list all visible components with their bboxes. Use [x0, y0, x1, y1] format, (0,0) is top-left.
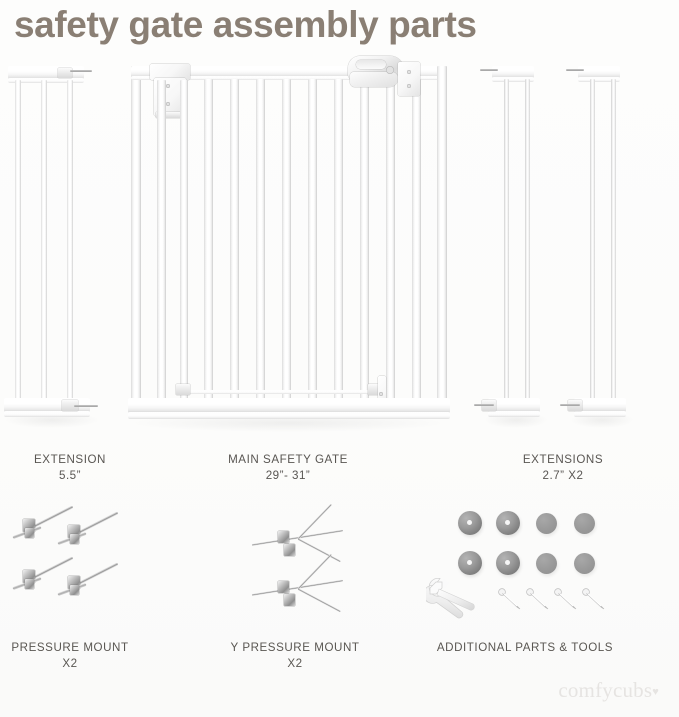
- pressure-bolt-2-threaded-rod: [74, 511, 118, 535]
- main-gate-bar-4: [282, 79, 291, 400]
- caption-y-pressure-mount-name: Y PRESSURE MOUNT: [230, 641, 359, 654]
- main-gate-hinge-hole-1: [166, 84, 170, 88]
- extension-b-bottom-rail-edge: [574, 411, 626, 417]
- caption-y-pressure-mount: Y PRESSURE MOUNT X2: [220, 640, 370, 671]
- main-gate-bar-8: [386, 79, 395, 400]
- brand-watermark: comfycubs♥: [558, 678, 659, 703]
- main-gate-bar-3: [256, 79, 265, 400]
- caption-main-safety-gate-size: 29”- 31”: [158, 468, 418, 484]
- rubber-cap-1: [536, 513, 557, 534]
- rubber-cap-3: [536, 553, 557, 574]
- heart-icon: ♥: [652, 686, 659, 698]
- caption-pressure-mount-size: X2: [0, 656, 140, 672]
- main-gate-bar-1: [204, 79, 213, 400]
- wall-cup-4: [496, 551, 520, 575]
- pressure-bolt-2-washer: [70, 534, 79, 544]
- main-gate-hinge-hole-2: [166, 102, 170, 106]
- main-gate-bar-9: [412, 79, 421, 400]
- extension-a-top-pin: [480, 69, 498, 71]
- extension-b-bar-2: [611, 79, 616, 400]
- latch-mounting-bracket: [398, 62, 420, 96]
- main-gate-door-crossbar: [184, 390, 374, 394]
- latch-bottom-pin-hole: [379, 392, 383, 396]
- wrench-icon: [426, 578, 482, 622]
- caption-extension-5-5: EXTENSION 5.5”: [0, 452, 140, 483]
- brand-name: comfycubs: [558, 678, 652, 702]
- extension-5-5-bar-3: [67, 80, 73, 400]
- main-gate-door-left-post: [157, 80, 166, 400]
- pressure-bolt-4-washer: [70, 585, 79, 595]
- main-gate-crossbar-end-left: [176, 384, 190, 395]
- caption-additional-parts-tools: ADDITIONAL PARTS & TOOLS: [410, 640, 640, 656]
- y-mount-2-nut-lower: [284, 594, 295, 606]
- caption-main-safety-gate: MAIN SAFETY GATE 29”- 31”: [158, 452, 418, 483]
- caption-extensions-2-7-name: EXTENSIONS: [523, 453, 603, 466]
- y-mount-1-arm-lower: [297, 538, 340, 562]
- caption-pressure-mount: PRESSURE MOUNT X2: [0, 640, 140, 671]
- rubber-cap-2: [574, 513, 595, 534]
- pressure-bolt-1-threaded-rod: [29, 505, 73, 529]
- extension-5-5-top-pin: [70, 70, 92, 72]
- extension-a-bar-2: [525, 79, 530, 400]
- latch-bracket-hole-2: [407, 84, 411, 88]
- latch-handle-body: [350, 72, 398, 87]
- main-gate-bottom-rail: [128, 398, 450, 413]
- caption-extensions-2-7: EXTENSIONS 2.7” X2: [488, 452, 638, 483]
- main-gate-bottom-rail-edge: [128, 412, 450, 419]
- extension-5-5-bar-2: [41, 80, 47, 400]
- extension-b-bottom-pin: [560, 404, 580, 406]
- main-gate-bar-6: [334, 79, 343, 400]
- pressure-bolt-3-washer: [25, 579, 34, 589]
- latch-pivot-hole: [386, 66, 394, 74]
- pressure-bolt-1-washer: [25, 528, 34, 538]
- rubber-cap-4: [574, 553, 595, 574]
- main-gate-bar-2: [230, 79, 239, 400]
- extension-5-5-bar-1: [15, 80, 21, 400]
- latch-handle-grip: [356, 60, 386, 69]
- caption-main-safety-gate-name: MAIN SAFETY GATE: [228, 453, 348, 466]
- y-mount-2-nut-upper: [278, 581, 289, 593]
- y-mount-1-nut-lower: [284, 544, 295, 556]
- screw-3: [554, 588, 580, 610]
- pressure-bolt-3-threaded-rod: [29, 556, 73, 580]
- main-gate-left-post: [131, 66, 141, 410]
- infographic-canvas: safety gate assembly parts EXTENSION 5.5…: [0, 0, 679, 717]
- main-gate-door-inner-post: [180, 80, 188, 400]
- main-gate-right-post: [437, 66, 447, 410]
- y-mount-1-nut-upper: [278, 531, 289, 543]
- caption-y-pressure-mount-size: X2: [220, 656, 370, 672]
- wall-cup-3: [458, 551, 482, 575]
- extension-b-top-pin: [566, 69, 584, 71]
- caption-extension-5-5-name: EXTENSION: [34, 453, 106, 466]
- extension-5-5-bottom-rail-edge: [4, 411, 90, 417]
- page-title: safety gate assembly parts: [14, 2, 654, 48]
- extension-b-bar-1: [590, 79, 595, 400]
- wall-cup-1: [458, 511, 482, 535]
- screw-4: [582, 588, 608, 610]
- main-gate-bar-5: [308, 79, 317, 400]
- caption-additional-parts-tools-name: ADDITIONAL PARTS & TOOLS: [437, 641, 613, 654]
- wall-cup-2: [496, 511, 520, 535]
- caption-extensions-2-7-size: 2.7” X2: [488, 468, 638, 484]
- y-mount-2-arm-lower: [297, 588, 340, 612]
- latch-bracket-hole-1: [407, 70, 411, 74]
- extension-a-bottom-pin: [474, 404, 494, 406]
- caption-pressure-mount-name: PRESSURE MOUNT: [11, 641, 128, 654]
- extension-a-bar-1: [504, 79, 509, 400]
- extension-5-5-bottom-pin: [74, 405, 98, 407]
- caption-extension-5-5-size: 5.5”: [0, 468, 140, 484]
- pressure-bolt-4-threaded-rod: [74, 562, 118, 586]
- extension-a-bottom-rail-edge: [488, 411, 540, 417]
- main-gate-bar-7: [360, 79, 369, 400]
- screw-2: [526, 588, 552, 610]
- screw-1: [498, 588, 524, 610]
